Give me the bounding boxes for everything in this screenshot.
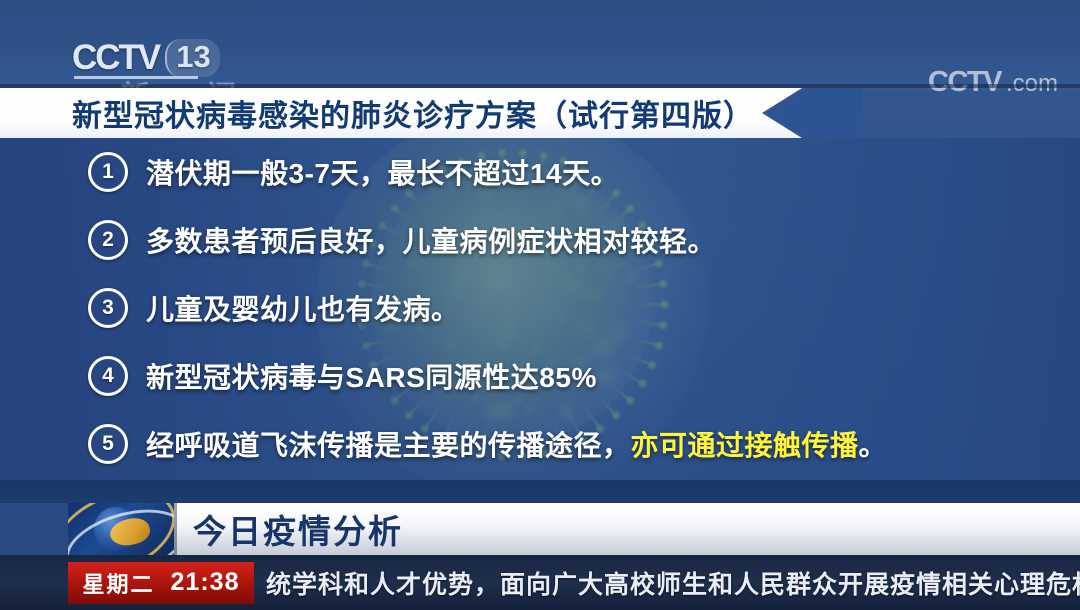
- list-item-number: 5: [88, 424, 128, 464]
- banner-top-rule: [0, 84, 1080, 88]
- ticker-clock: 星期二 21:38: [68, 562, 254, 604]
- lower-third-band: [0, 480, 1080, 503]
- list-item-text-main: 潜伏期一般3-7天，最长不超过14天。: [146, 158, 619, 189]
- list-item: 5经呼吸道飞沫传播是主要的传播途径，亦可通过接触传播。: [0, 410, 1080, 478]
- ticker-time: 21:38: [171, 568, 240, 597]
- list-item: 3儿童及婴幼儿也有发病。: [0, 274, 1080, 342]
- list-item-text-main: 新型冠状病毒与SARS同源性达85%: [146, 362, 597, 393]
- list-item-text: 潜伏期一般3-7天，最长不超过14天。: [146, 152, 619, 192]
- watermark-main-text: CCTV: [928, 66, 1001, 99]
- cctv-com-watermark: CCTV .com: [928, 66, 1058, 99]
- list-item-text: 儿童及婴幼儿也有发病。: [146, 288, 460, 328]
- list-item-number: 3: [88, 288, 128, 328]
- list-item-text-main: 经呼吸道飞沫传播是主要的传播途径，: [146, 430, 631, 461]
- title-banner: 新型冠状病毒感染的肺炎诊疗方案（试行第四版）: [0, 88, 802, 138]
- broadcast-screen: CCTV 13 CCTV .com 新 闻 新型冠状病毒感染的肺炎诊疗方案（试行…: [0, 0, 1080, 610]
- ticker-weekday: 星期二: [83, 567, 155, 599]
- globe-icon: [68, 503, 174, 555]
- ticker-headline: 统学科和人才优势，面向广大高校师生和人民群众开展疫情相关心理危机干预工作。: [266, 565, 1080, 601]
- list-item-number: 1: [88, 152, 128, 192]
- lower-third-title: 今日疫情分析: [193, 505, 403, 553]
- list-item-text: 经呼吸道飞沫传播是主要的传播途径，亦可通过接触传播。: [146, 424, 887, 464]
- news-ticker: 星期二 21:38 统学科和人才优势，面向广大高校师生和人民群众开展疫情相关心理…: [0, 555, 1080, 610]
- list-item-text-main: 儿童及婴幼儿也有发病。: [146, 294, 460, 325]
- list-item: 4新型冠状病毒与SARS同源性达85%: [0, 342, 1080, 410]
- list-item-text-main: 多数患者预后良好，儿童病例症状相对较轻。: [146, 226, 716, 257]
- list-item-text: 新型冠状病毒与SARS同源性达85%: [146, 356, 597, 396]
- list-item-text: 多数患者预后良好，儿童病例症状相对较轻。: [146, 220, 716, 260]
- page-title: 新型冠状病毒感染的肺炎诊疗方案（试行第四版）: [72, 91, 754, 135]
- list-item-text-tail: 。: [859, 430, 888, 461]
- list-item: 2多数患者预后良好，儿童病例症状相对较轻。: [0, 206, 1080, 274]
- guideline-list: 1潜伏期一般3-7天，最长不超过14天。2多数患者预后良好，儿童病例症状相对较轻…: [0, 138, 1080, 478]
- list-item-highlight: 亦可通过接触传播: [631, 430, 859, 461]
- list-item-number: 4: [88, 356, 128, 396]
- list-item-number: 2: [88, 220, 128, 260]
- lower-third-bar: 今日疫情分析: [68, 503, 1080, 555]
- list-item: 1潜伏期一般3-7天，最长不超过14天。: [0, 138, 1080, 206]
- lower-third-divider: [174, 503, 177, 555]
